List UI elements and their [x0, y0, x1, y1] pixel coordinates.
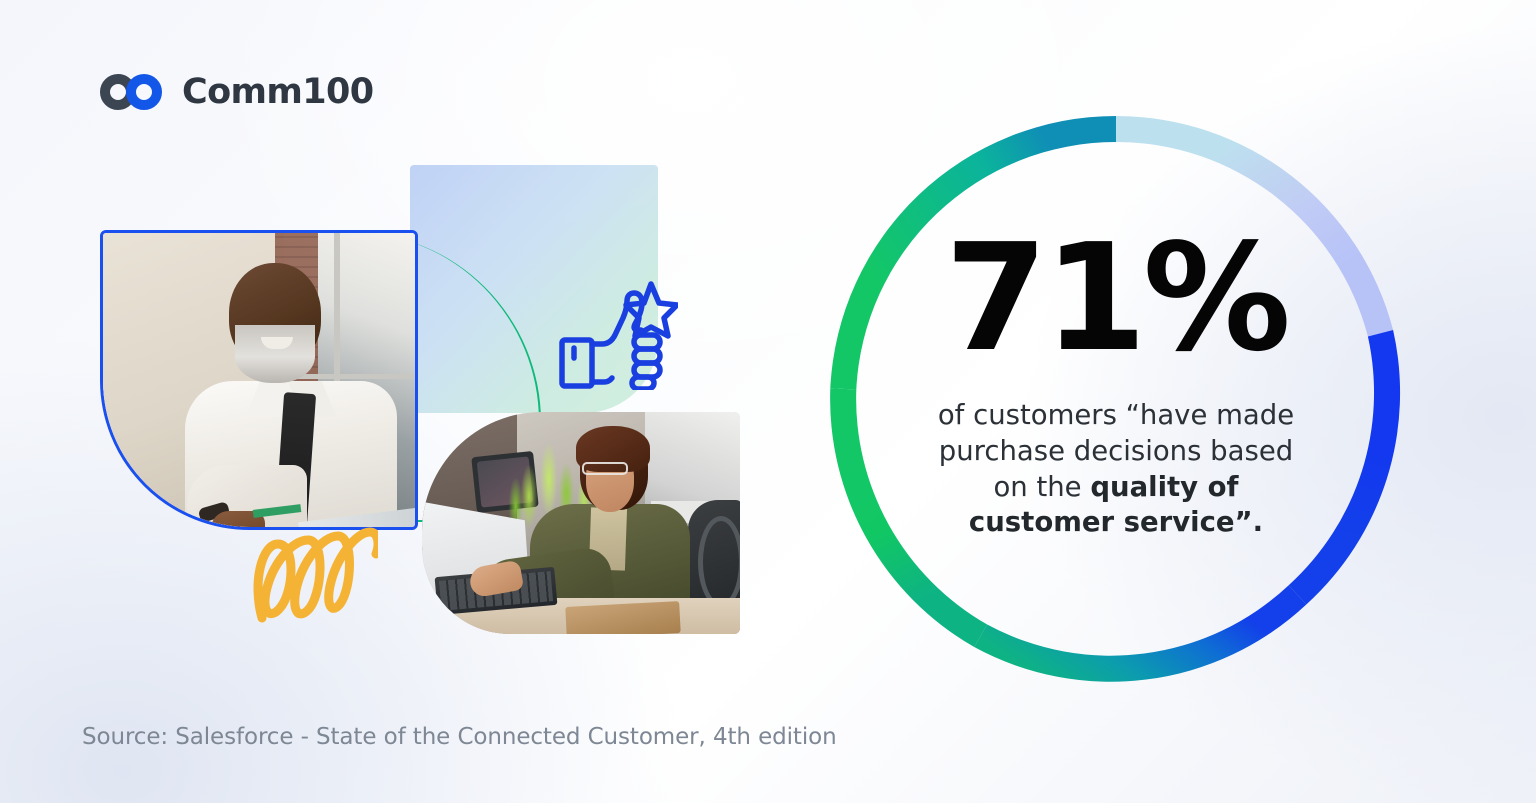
photo1-beard — [235, 325, 315, 383]
photo2-wheel — [698, 516, 740, 608]
donut-fill-arc-3 — [974, 585, 1306, 682]
stat-desc-line1: of customers “have made — [938, 399, 1294, 431]
donut-center-content: 71% of customers “have made purchase dec… — [914, 220, 1318, 584]
photo2-glasses-icon — [582, 462, 628, 475]
photo-woman-typing-at-desk — [422, 412, 740, 634]
donut-chart: 71% of customers “have made purchase dec… — [806, 92, 1426, 712]
photo1-scene — [103, 233, 415, 527]
stat-desc-line3-prefix: on the — [993, 471, 1090, 503]
photo-smiling-man-in-office — [100, 230, 418, 530]
stat-value: 71% — [945, 224, 1287, 372]
photo-collage — [0, 0, 790, 700]
thumbs-up-with-star-icon — [556, 278, 678, 390]
infographic-canvas: Comm100 — [0, 0, 1536, 803]
stat-desc-line2: purchase decisions based — [939, 435, 1293, 467]
orange-spiral-doodle-icon — [252, 522, 378, 626]
source-citation: Source: Salesforce - State of the Connec… — [82, 724, 837, 750]
stat-desc-line4-bold: customer service”. — [969, 506, 1263, 538]
stat-desc-line3-bold: quality of — [1090, 471, 1238, 503]
photo2-folder — [565, 601, 681, 634]
stat-description: of customers “have made purchase decisio… — [921, 398, 1311, 541]
